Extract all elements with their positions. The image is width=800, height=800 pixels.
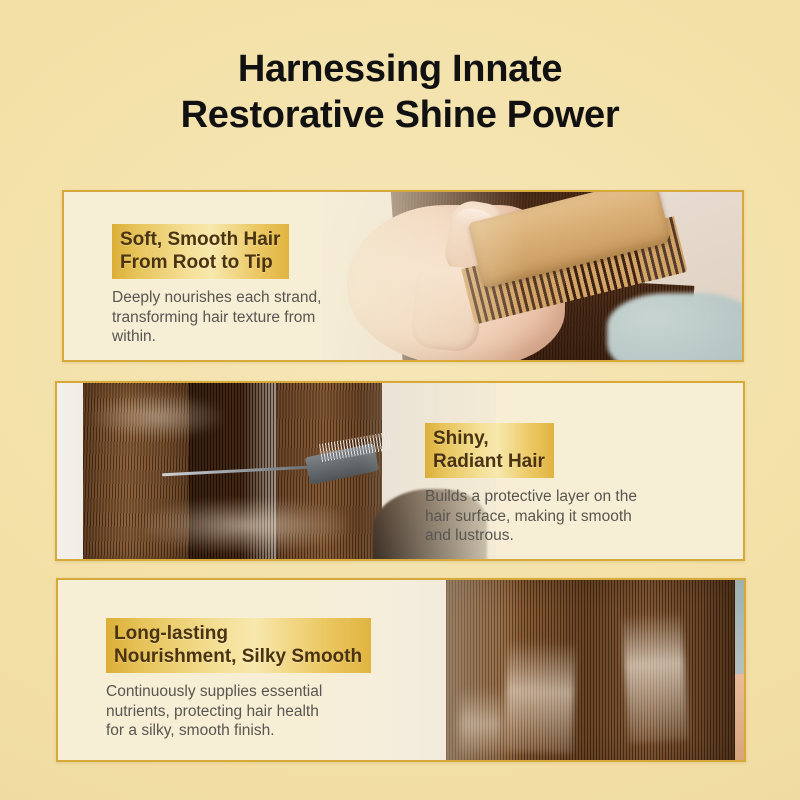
hair-shine-highlight <box>622 611 688 744</box>
page-title: Harnessing Innate Restorative Shine Powe… <box>0 46 800 138</box>
feature-heading-1: Soft, Smooth Hair From Root to Tip <box>112 224 289 279</box>
page-title-line-1: Harnessing Innate <box>0 46 800 92</box>
feature-card-2: Shiny, Radiant Hair Builds a protective … <box>55 381 745 561</box>
feature-text-1: Soft, Smooth Hair From Root to Tip Deepl… <box>112 224 402 347</box>
feature-card-1: Soft, Smooth Hair From Root to Tip Deepl… <box>62 190 744 362</box>
page-title-line-2: Restorative Shine Power <box>0 92 800 138</box>
hair-shine-highlight <box>145 499 347 552</box>
feature-body-2: Builds a protective layer on the hair su… <box>425 487 725 546</box>
feature-text-3: Long-lasting Nourishment, Silky Smooth C… <box>106 618 396 741</box>
feature-card-3: Long-lasting Nourishment, Silky Smooth C… <box>56 578 746 762</box>
feature-body-3: Continuously supplies essential nutrient… <box>106 682 396 741</box>
hair-shine-highlight <box>504 640 576 754</box>
feature-heading-3: Long-lasting Nourishment, Silky Smooth <box>106 618 371 673</box>
feature-heading-2: Shiny, Radiant Hair <box>425 423 554 478</box>
background-cloth-shape <box>607 293 742 360</box>
hair-shine-highlight <box>92 394 224 440</box>
feature-body-1: Deeply nourishes each strand, transformi… <box>112 288 402 347</box>
feature-text-2: Shiny, Radiant Hair Builds a protective … <box>425 423 725 546</box>
promo-page: Harnessing Innate Restorative Shine Powe… <box>0 0 800 800</box>
hair-shine-highlight <box>459 688 502 760</box>
